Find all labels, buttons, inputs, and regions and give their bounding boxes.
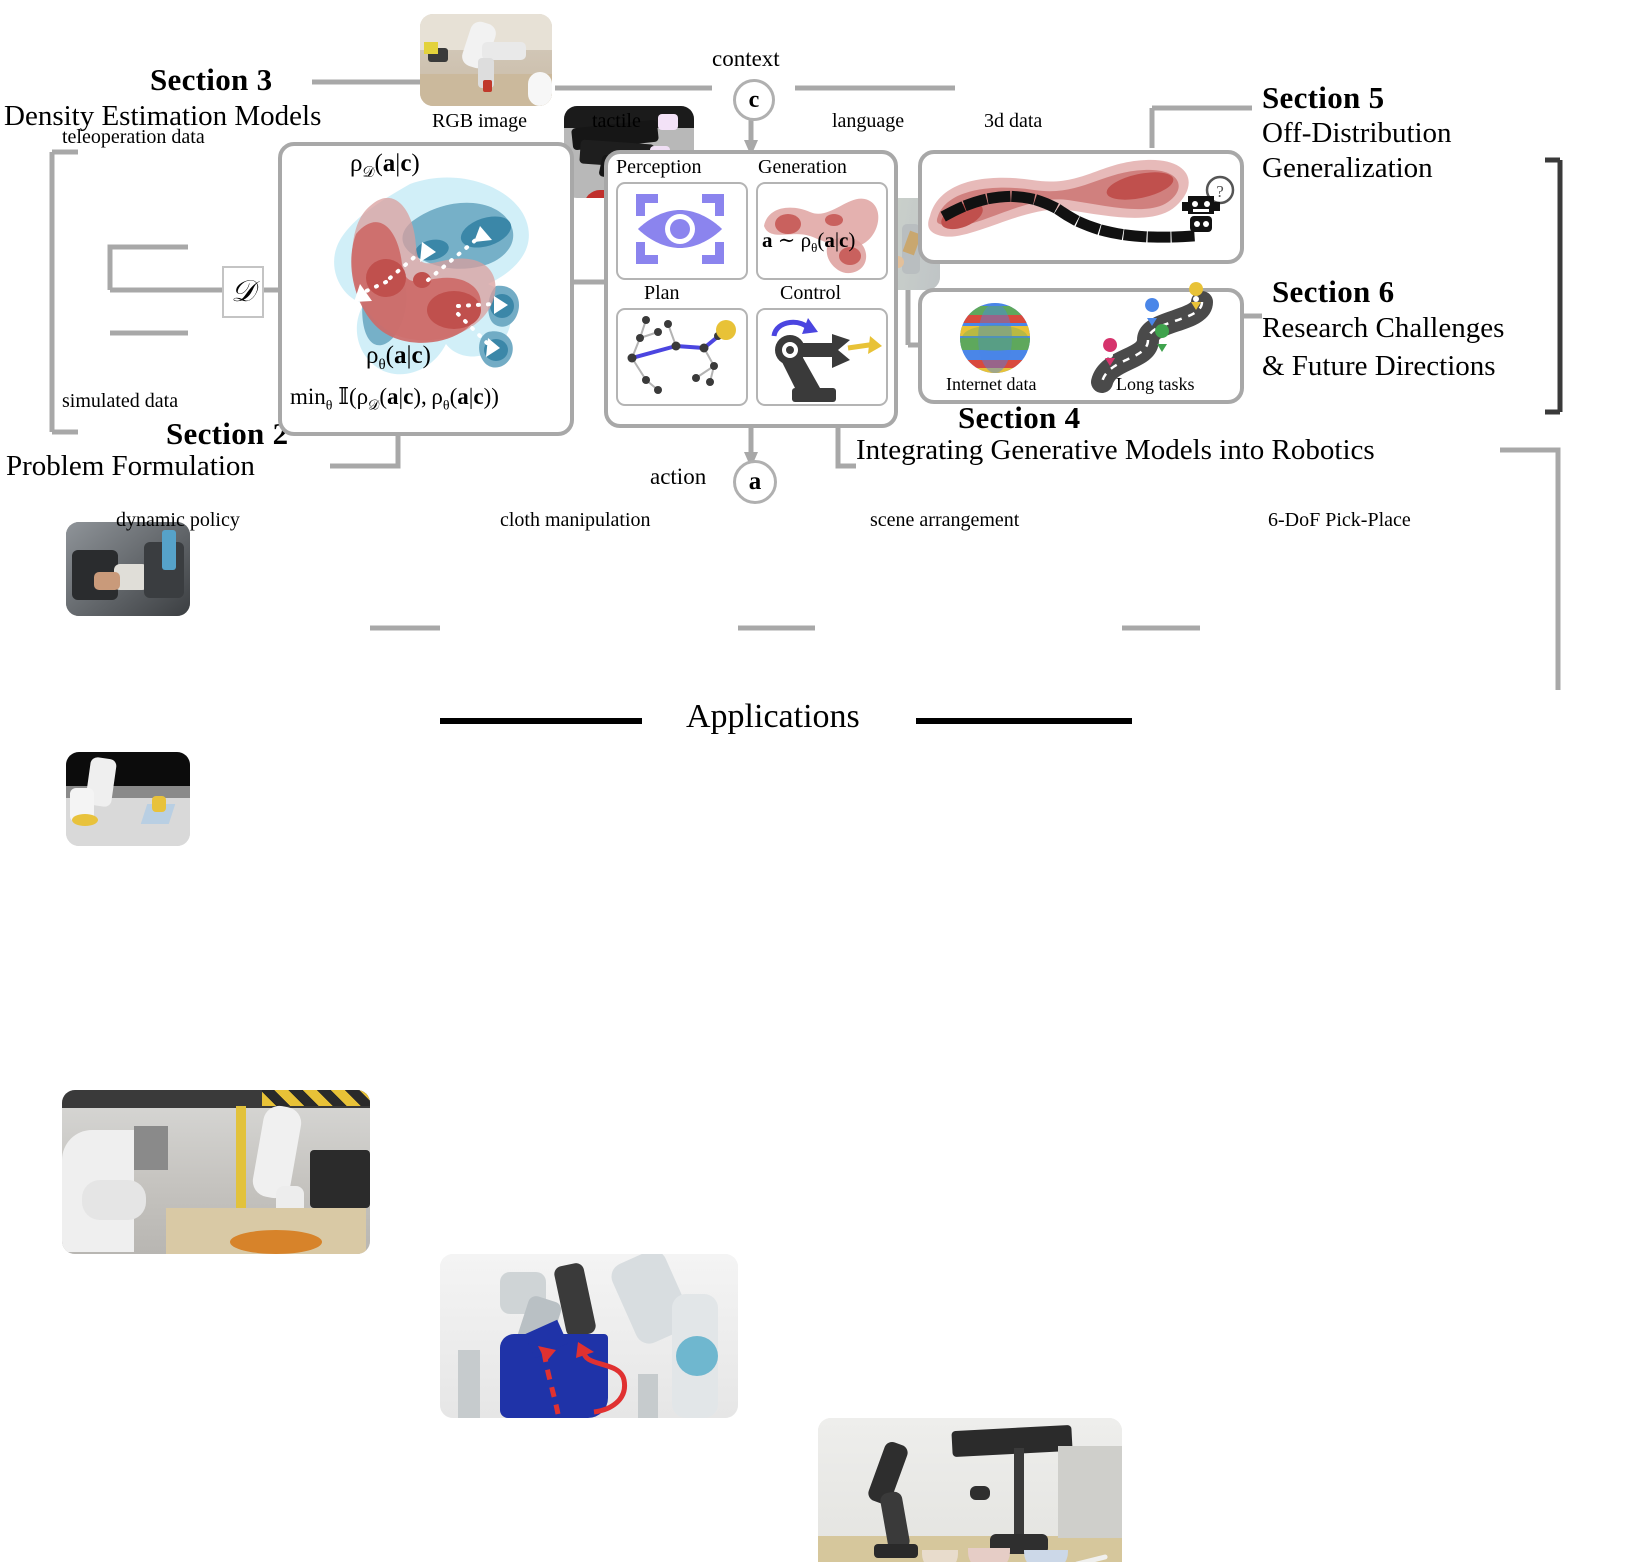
section-4-title: Integrating Generative Models into Robot… — [856, 434, 1375, 466]
simulated-data-image — [66, 752, 190, 846]
generation-label: Generation — [758, 156, 847, 179]
density-model-formula: ρθ(a|c) — [366, 342, 431, 374]
section-5-line2: Generalization — [1262, 152, 1433, 184]
application-label-cloth: cloth manipulation — [500, 509, 651, 532]
section-2-title: Problem Formulation — [6, 450, 255, 482]
plan-panel — [616, 308, 748, 406]
application-image-cloth — [440, 1254, 738, 1418]
section-4-number: Section 4 — [958, 402, 1080, 434]
perception-label: Perception — [616, 156, 702, 179]
applications-title: Applications — [686, 698, 860, 736]
section-3-number: Section 3 — [150, 64, 272, 96]
section-5-line1: Off-Distribution — [1262, 117, 1452, 149]
section-6-line2: & Future Directions — [1262, 350, 1496, 382]
context-label-3d: 3d data — [984, 110, 1042, 133]
winding-road-icon — [1090, 294, 1220, 384]
teleoperation-data-image — [66, 522, 190, 616]
context-node: c — [733, 79, 775, 121]
svg-text:?: ? — [1216, 182, 1224, 201]
density-data-formula: ρ𝒟(a|c) — [350, 150, 420, 182]
action-label: action — [650, 464, 706, 490]
long-tasks-label: Long tasks — [1116, 374, 1195, 395]
context-label-rgb: RGB image — [432, 110, 527, 133]
control-panel — [756, 308, 888, 406]
simulated-data-label: simulated data — [62, 390, 178, 413]
perception-panel — [616, 182, 748, 280]
section-6-line1: Research Challenges — [1262, 312, 1504, 344]
robot-question-icon: ? — [1180, 176, 1236, 242]
application-image-scene — [818, 1418, 1122, 1562]
action-node-label: a — [749, 468, 762, 496]
density-objective: minθ 𝕀(ρ𝒟(a|c), ρθ(a|c)) — [290, 384, 499, 415]
section-6-number: Section 6 — [1272, 276, 1394, 308]
control-label: Control — [780, 282, 841, 305]
action-node: a — [733, 460, 777, 504]
section-5-number: Section 5 — [1262, 82, 1384, 114]
internet-data-label: Internet data — [946, 374, 1036, 395]
plan-label: Plan — [644, 282, 680, 305]
context-node-label: c — [749, 87, 760, 114]
density-estimation-card: ρ𝒟(a|c) ρθ(a|c) minθ 𝕀(ρ𝒟(a|c), ρθ(a|c)) — [278, 142, 574, 436]
application-label-pick-place: 6-DoF Pick-Place — [1268, 509, 1411, 532]
section-2-number: Section 2 — [166, 418, 288, 450]
pipeline-card: Perception Generation a ∼ ρθ(a|c) Plan — [604, 150, 898, 428]
context-label-language: language — [832, 110, 904, 133]
applications-rule-left — [440, 718, 642, 724]
ood-card: ? — [918, 150, 1244, 264]
application-label-dynamic-policy: dynamic policy — [116, 509, 240, 532]
context-image-rgb — [420, 14, 552, 106]
context-rail-label: context — [712, 46, 780, 72]
challenges-card: Internet data Long tasks — [918, 288, 1244, 404]
generation-formula: a ∼ ρθ(a|c) — [762, 228, 855, 256]
application-image-dynamic-policy — [62, 1090, 370, 1254]
generation-panel: a ∼ ρθ(a|c) — [756, 182, 888, 280]
context-label-tactile: tactile — [592, 110, 641, 133]
dataset-box: 𝒟 — [222, 266, 264, 318]
teleoperation-data-label: teleoperation data — [62, 126, 205, 149]
application-label-scene: scene arrangement — [870, 509, 1019, 532]
globe-icon — [950, 300, 1040, 380]
applications-rule-right — [916, 718, 1132, 724]
